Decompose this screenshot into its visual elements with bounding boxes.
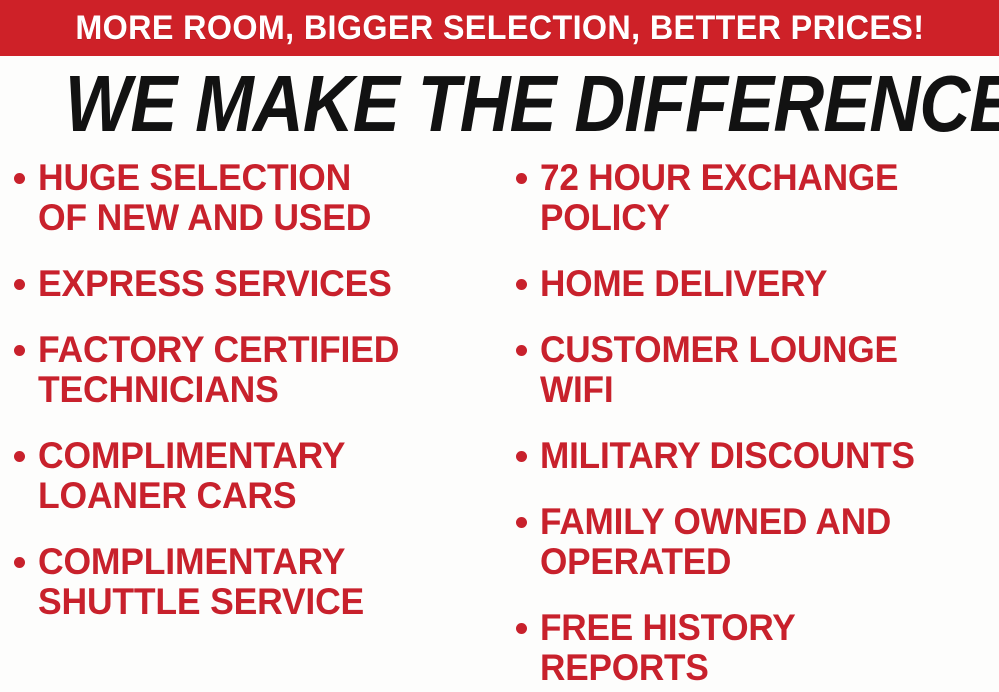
bullet-dot-icon (14, 557, 25, 568)
benefits-column-left: HUGE SELECTION OF NEW AND USED EXPRESS S… (14, 158, 509, 692)
list-item-label: 72 HOUR EXCHANGE POLICY (540, 158, 976, 238)
promo-banner-text: MORE ROOM, BIGGER SELECTION, BETTER PRIC… (75, 11, 924, 45)
advertisement-banner: MORE ROOM, BIGGER SELECTION, BETTER PRIC… (0, 0, 999, 692)
list-item-label: EXPRESS SERVICES (38, 264, 490, 304)
bullet-dot-icon (516, 173, 527, 184)
list-item: COMPLIMENTARY SHUTTLE SERVICE (14, 542, 509, 622)
bullet-dot-icon (516, 279, 527, 290)
bullet-dot-icon (14, 173, 25, 184)
bullet-dot-icon (516, 451, 527, 462)
list-item: CUSTOMER LOUNGE WIFI (516, 330, 999, 410)
bullet-dot-icon (14, 451, 25, 462)
list-item: FACTORY CERTIFIED TECHNICIANS (14, 330, 509, 410)
list-item: EXPRESS SERVICES (14, 264, 509, 304)
bullet-dot-icon (516, 345, 527, 356)
headline-text: WE MAKE THE DIFFERENCE (65, 64, 999, 144)
list-item-label: HOME DELIVERY (540, 264, 976, 304)
list-item: MILITARY DISCOUNTS (516, 436, 999, 476)
list-item-label: FACTORY CERTIFIED TECHNICIANS (38, 330, 490, 410)
bullet-dot-icon (516, 623, 527, 634)
list-item-label: FREE HISTORY REPORTS (540, 608, 976, 688)
bullet-dot-icon (516, 517, 527, 528)
benefits-column-right: 72 HOUR EXCHANGE POLICY HOME DELIVERY CU… (516, 158, 999, 692)
benefits-columns: HUGE SELECTION OF NEW AND USED EXPRESS S… (0, 158, 999, 692)
list-item-label: FAMILY OWNED AND OPERATED (540, 502, 976, 582)
list-item-label: HUGE SELECTION OF NEW AND USED (38, 158, 490, 238)
list-item-label: COMPLIMENTARY SHUTTLE SERVICE (38, 542, 490, 622)
bullet-dot-icon (14, 279, 25, 290)
bullet-dot-icon (14, 345, 25, 356)
list-item-label: COMPLIMENTARY LOANER CARS (38, 436, 490, 516)
list-item: HOME DELIVERY (516, 264, 999, 304)
list-item: 72 HOUR EXCHANGE POLICY (516, 158, 999, 238)
list-item-label: CUSTOMER LOUNGE WIFI (540, 330, 976, 410)
headline: WE MAKE THE DIFFERENCE (0, 64, 999, 144)
list-item: FREE HISTORY REPORTS (516, 608, 999, 688)
promo-banner: MORE ROOM, BIGGER SELECTION, BETTER PRIC… (0, 0, 999, 56)
list-item: COMPLIMENTARY LOANER CARS (14, 436, 509, 516)
list-item: FAMILY OWNED AND OPERATED (516, 502, 999, 582)
list-item: HUGE SELECTION OF NEW AND USED (14, 158, 509, 238)
list-item-label: MILITARY DISCOUNTS (540, 436, 976, 476)
